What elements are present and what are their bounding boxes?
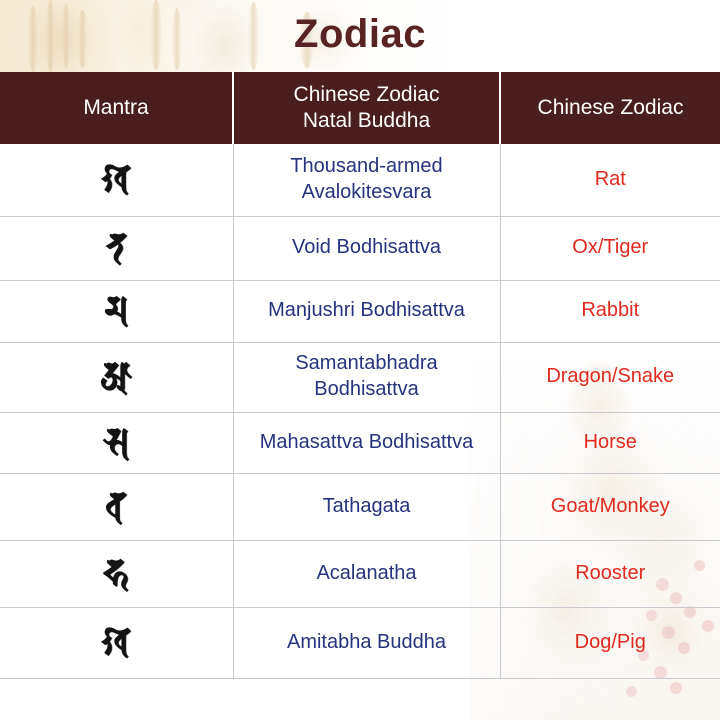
siddham-bija-sa-icon: 𑖭 xyxy=(103,423,130,463)
natal-buddha-cell: Tathagata xyxy=(233,473,500,540)
table-row: 𑖦 Manjushri Bodhisattva Rabbit xyxy=(0,280,720,342)
chinese-zodiac-cell: Rat xyxy=(500,144,720,216)
table-row: 𑖁 Samantabhadra Bodhisattva Dragon/Snake xyxy=(0,342,720,412)
mantra-glyph-cell: 𑖝 xyxy=(0,216,233,280)
mantra-glyph-cell: 𑖁 xyxy=(0,342,233,412)
chinese-zodiac-cell: Dog/Pig xyxy=(500,607,720,678)
chinese-zodiac-cell: Rabbit xyxy=(500,280,720,342)
column-header-natal-buddha-line2: Natal Buddha xyxy=(303,109,430,132)
mantra-glyph-cell: 𑖭 xyxy=(0,412,233,473)
natal-buddha-line2: Bodhisattva xyxy=(314,378,419,400)
natal-buddha-cell: Acalanatha xyxy=(233,540,500,607)
mantra-glyph-cell: 𑖦 xyxy=(0,280,233,342)
table-row: 𑖮 Acalanatha Rooster xyxy=(0,540,720,607)
column-header-natal-buddha-line1: Chinese Zodiac xyxy=(294,83,440,106)
natal-buddha-cell: Void Bodhisattva xyxy=(233,216,500,280)
natal-buddha-line1: Samantabhadra xyxy=(295,352,437,374)
page-title: Zodiac xyxy=(294,14,426,58)
table-row: 𑖏 Thousand-armed Avalokitesvara Rat xyxy=(0,144,720,216)
table-header: Mantra Chinese Zodiac Natal Buddha Chine… xyxy=(0,72,720,144)
column-header-natal-buddha: Chinese Zodiac Natal Buddha xyxy=(233,72,500,144)
column-header-mantra: Mantra xyxy=(0,72,233,144)
natal-buddha-line2: Avalokitesvara xyxy=(302,181,432,203)
siddham-bija-am-icon: 𑖁 xyxy=(100,357,132,397)
natal-buddha-cell: Manjushri Bodhisattva xyxy=(233,280,500,342)
natal-buddha-cell: Samantabhadra Bodhisattva xyxy=(233,342,500,412)
natal-buddha-line1: Thousand-armed xyxy=(290,155,442,177)
table-row: 𑖝 Void Bodhisattva Ox/Tiger xyxy=(0,216,720,280)
chinese-zodiac-cell: Rooster xyxy=(500,540,720,607)
table-header-row: Mantra Chinese Zodiac Natal Buddha Chine… xyxy=(0,72,720,144)
table-body: 𑖏 Thousand-armed Avalokitesvara Rat 𑖝 Vo… xyxy=(0,144,720,678)
siddham-bija-hrih-icon: 𑖏 xyxy=(101,160,131,200)
table-row: 𑖭 Mahasattva Bodhisattva Horse xyxy=(0,412,720,473)
chinese-zodiac-cell: Ox/Tiger xyxy=(500,216,720,280)
natal-buddha-cell: Thousand-armed Avalokitesvara xyxy=(233,144,500,216)
zodiac-table: Mantra Chinese Zodiac Natal Buddha Chine… xyxy=(0,72,720,679)
mantra-glyph-cell: 𑖏 xyxy=(0,607,233,678)
mantra-glyph-cell: 𑖮 xyxy=(0,540,233,607)
mantra-glyph-cell: 𑖪 xyxy=(0,473,233,540)
siddham-bija-vam-icon: 𑖪 xyxy=(105,487,127,527)
title-bar: Zodiac xyxy=(0,0,720,72)
siddham-bija-mam-icon: 𑖦 xyxy=(104,291,129,331)
chinese-zodiac-cell: Dragon/Snake xyxy=(500,342,720,412)
column-header-chinese-zodiac: Chinese Zodiac xyxy=(500,72,720,144)
siddham-bija-ham-icon: 𑖮 xyxy=(103,554,129,594)
mantra-glyph-cell: 𑖏 xyxy=(0,144,233,216)
table-row: 𑖪 Tathagata Goat/Monkey xyxy=(0,473,720,540)
table-row: 𑖏 Amitabha Buddha Dog/Pig xyxy=(0,607,720,678)
siddham-bija-tarah-icon: 𑖝 xyxy=(106,228,127,268)
chinese-zodiac-cell: Goat/Monkey xyxy=(500,473,720,540)
chinese-zodiac-cell: Horse xyxy=(500,412,720,473)
siddham-bija-hrih-icon: 𑖏 xyxy=(101,623,131,663)
natal-buddha-cell: Amitabha Buddha xyxy=(233,607,500,678)
natal-buddha-cell: Mahasattva Bodhisattva xyxy=(233,412,500,473)
